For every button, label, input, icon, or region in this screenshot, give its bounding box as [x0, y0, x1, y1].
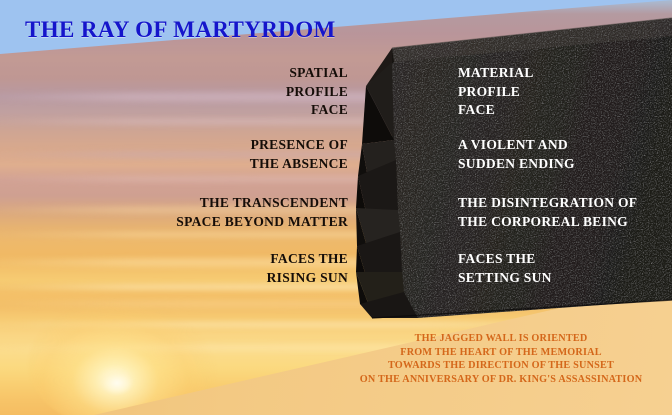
right-block-3-line-1: SETTING SUN [458, 269, 668, 288]
left-block-2-line-0: THE TRANSCENDENT [110, 194, 348, 213]
left-block-3-line-0: FACES THE [110, 250, 348, 269]
setting-sun-icon [102, 372, 132, 394]
right-block-3: FACES THE SETTING SUN [458, 250, 668, 287]
right-block-1-line-0: A VIOLENT AND [458, 136, 668, 155]
left-block-0-line-0: SPATIAL [110, 64, 348, 83]
left-block-0-line-1: PROFILE [110, 83, 348, 102]
left-block-2: THE TRANSCENDENT SPACE BEYOND MATTER [110, 194, 348, 231]
right-block-3-line-0: FACES THE [458, 250, 668, 269]
right-block-0-line-1: PROFILE [458, 83, 668, 102]
cloud-streak [0, 176, 672, 182]
left-block-0-line-2: FACE [110, 101, 348, 120]
caption-line-0: THE JAGGED WALL IS ORIENTED [330, 332, 672, 346]
right-block-0-line-2: FACE [458, 101, 668, 120]
left-block-2-line-1: SPACE BEYOND MATTER [110, 213, 348, 232]
page-title: THE RAY OF MARTYRDOM [25, 17, 336, 43]
orientation-caption: THE JAGGED WALL IS ORIENTED FROM THE HEA… [330, 332, 672, 386]
cloud-streak [0, 232, 672, 237]
left-block-3: FACES THE RISING SUN [110, 250, 348, 287]
right-block-2: THE DISINTEGRATION OF THE CORPOREAL BEIN… [458, 194, 668, 231]
caption-line-2: TOWARDS THE DIRECTION OF THE SUNSET [330, 359, 672, 373]
poster-canvas: THE RAY OF MARTYRDOM SPATIAL PROFILE FAC… [0, 0, 672, 415]
right-block-0-line-0: MATERIAL [458, 64, 668, 83]
right-block-2-line-0: THE DISINTEGRATION OF [458, 194, 668, 213]
left-block-1-line-1: THE ABSENCE [110, 155, 348, 174]
left-block-1: PRESENCE OF THE ABSENCE [110, 136, 348, 173]
caption-line-3: ON THE ANNIVERSARY OF DR. KING'S ASSASSI… [330, 373, 672, 387]
right-block-0: MATERIAL PROFILE FACE [458, 64, 668, 120]
right-block-1: A VIOLENT AND SUDDEN ENDING [458, 136, 668, 173]
left-block-0: SPATIAL PROFILE FACE [110, 64, 348, 120]
right-block-2-line-1: THE CORPOREAL BEING [458, 213, 668, 232]
left-block-1-line-0: PRESENCE OF [110, 136, 348, 155]
caption-line-1: FROM THE HEART OF THE MEMORIAL [330, 346, 672, 360]
left-block-3-line-1: RISING SUN [110, 269, 348, 288]
right-block-1-line-1: SUDDEN ENDING [458, 155, 668, 174]
